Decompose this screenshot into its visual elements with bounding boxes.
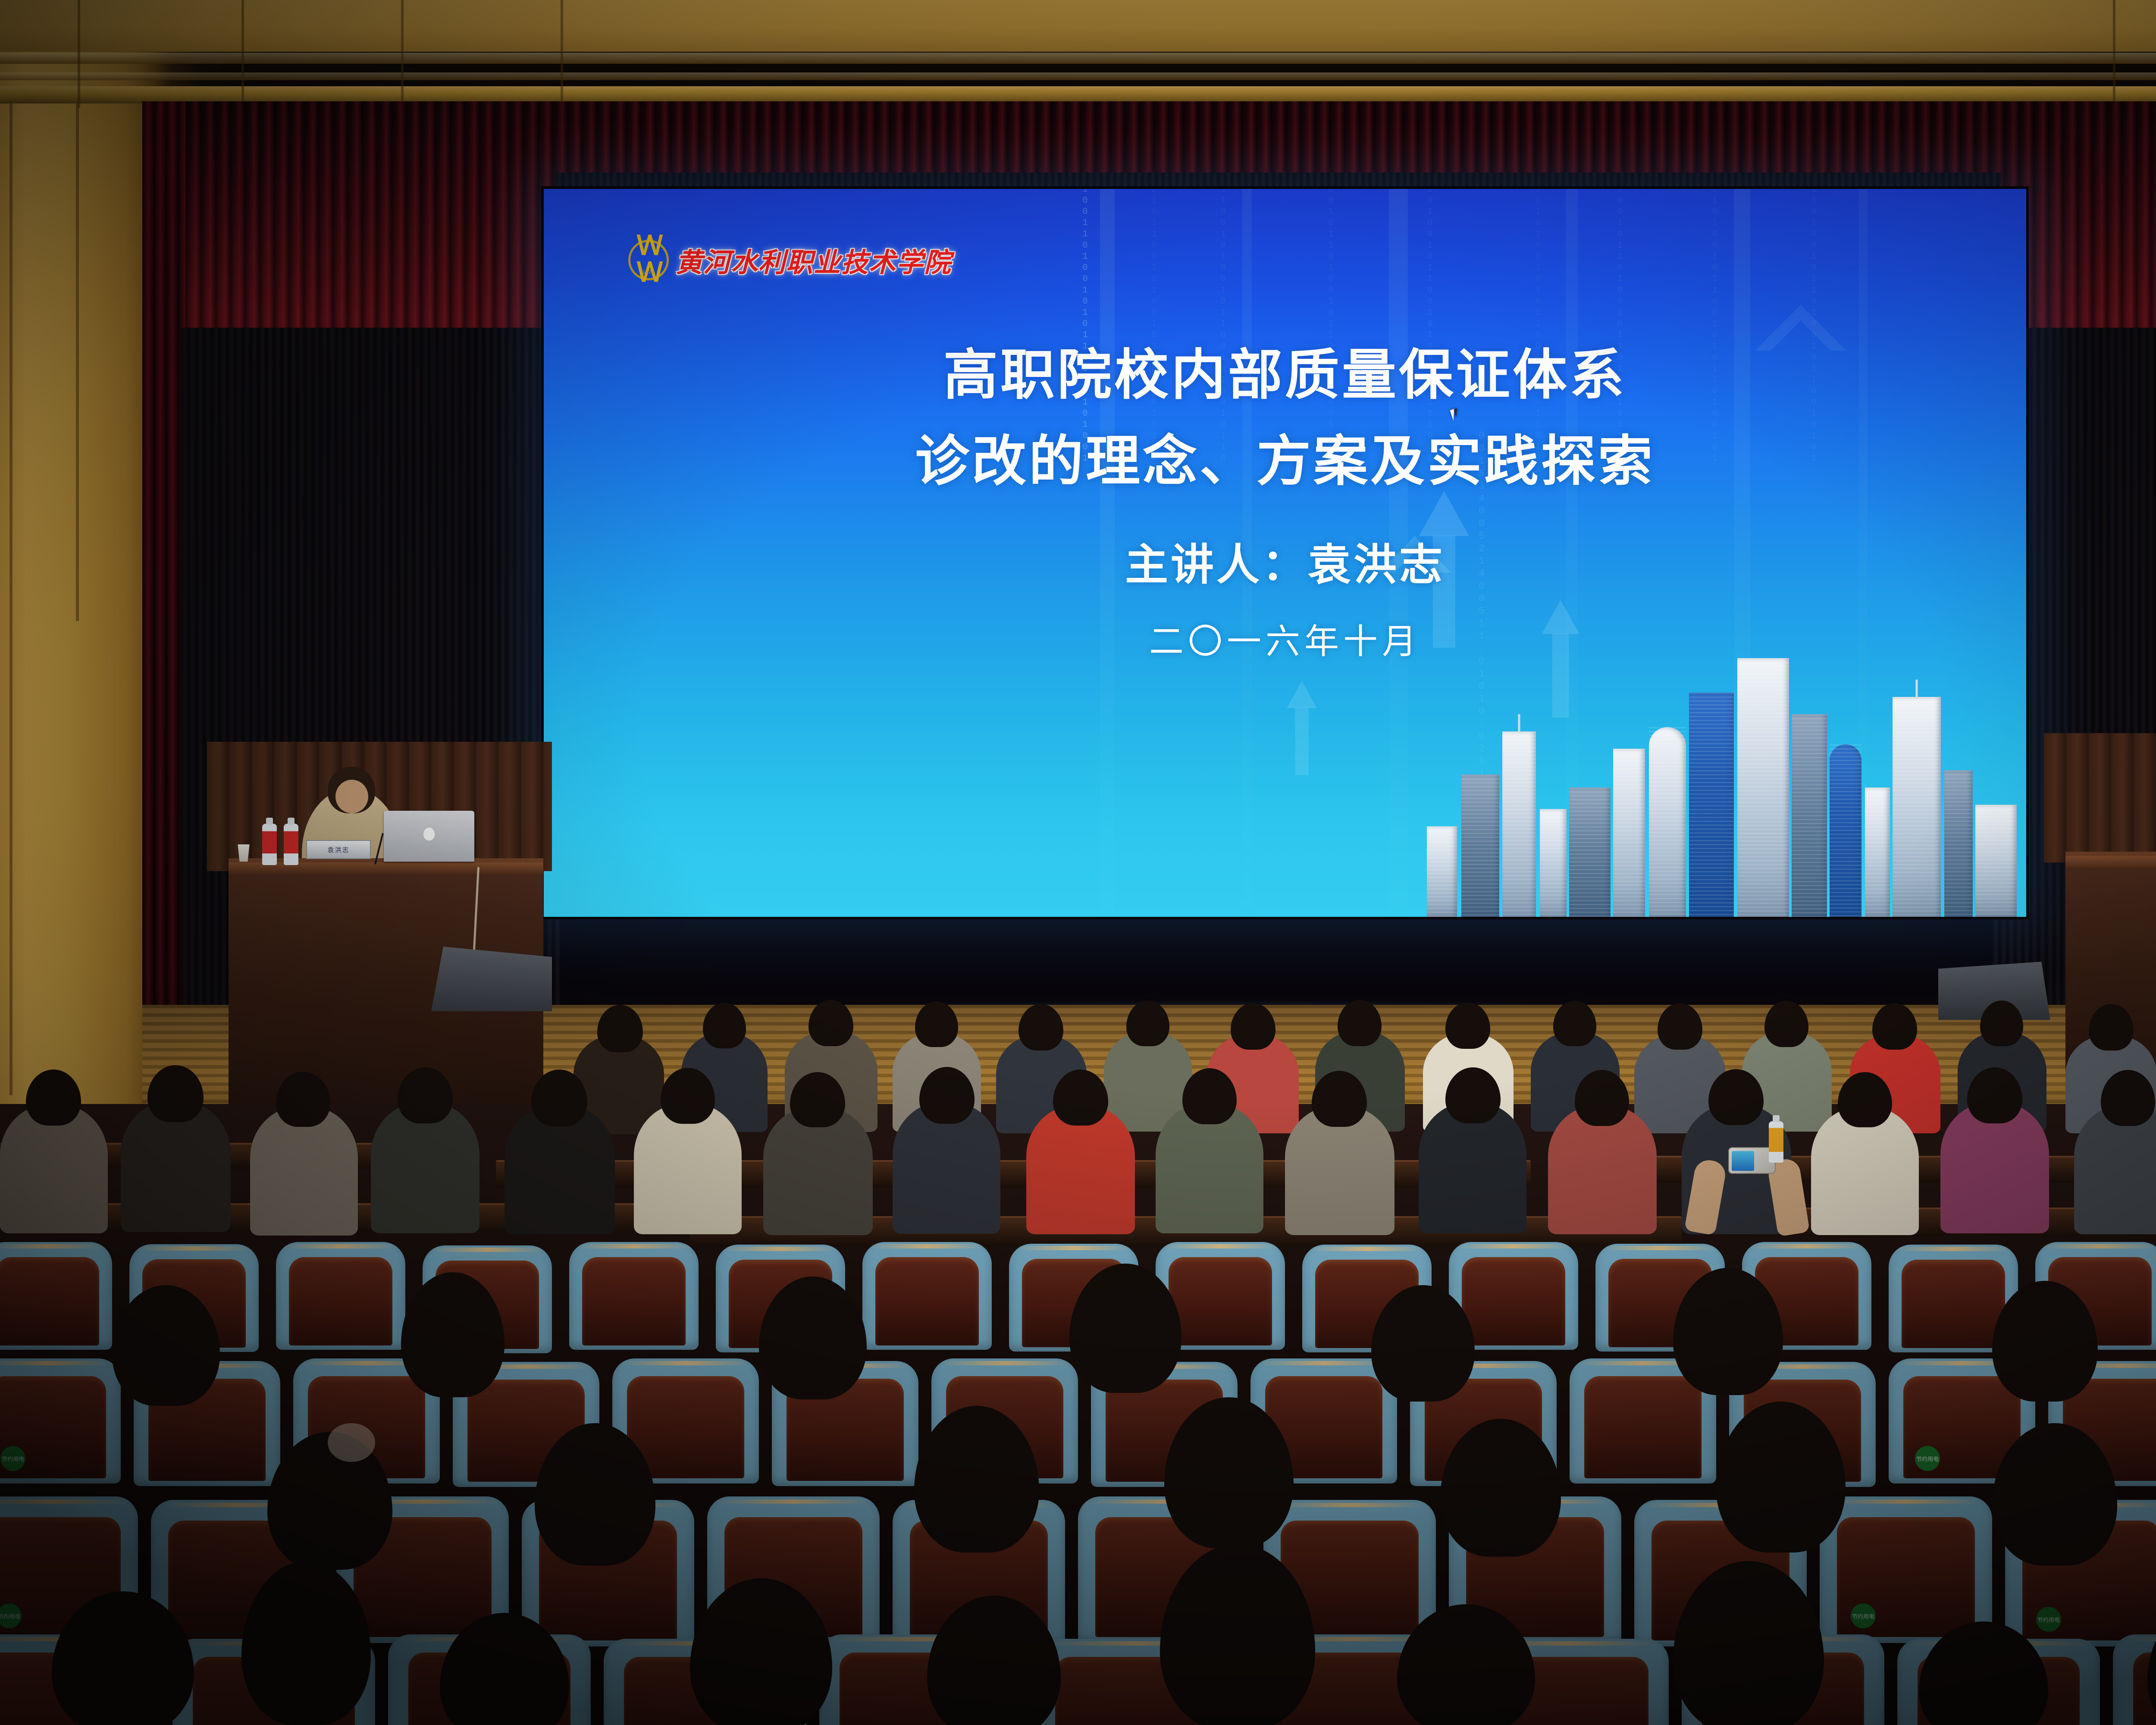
wall-seam (78, 0, 80, 108)
hair-clip (328, 1423, 375, 1462)
podium-backdrop-right (2044, 733, 2156, 862)
presentation-slide: 1001101001010110010101001 01011001010010… (544, 189, 2026, 917)
wall-pilaster (9, 103, 13, 1095)
water-bottle (262, 824, 277, 865)
slide-title-line2: 诊改的理念、方案及实践探索 (544, 417, 2026, 496)
juice-bottle (1769, 1121, 1783, 1163)
presenter-laptop (384, 811, 474, 862)
stage-monitor-speaker-left (431, 947, 552, 1011)
presenter-face (335, 780, 368, 813)
hall-ceiling-band (0, 0, 2156, 52)
wall-molding-lower (0, 86, 2156, 103)
phone-screen (1732, 1151, 1754, 1171)
wall-molding-upper (0, 53, 2156, 64)
seat-sticker: 节约用电 (2036, 1607, 2061, 1632)
theater-seat[interactable] (0, 1242, 112, 1350)
auditorium-scene: 1001101001010110010101001 01011001010010… (0, 0, 2156, 1725)
emblem-year: 1929 (642, 270, 655, 275)
theater-seat[interactable]: 节约用电 (1820, 1496, 1992, 1643)
seat-sticker: 节约用电 (1915, 1446, 1940, 1471)
water-bottle (284, 824, 298, 865)
city-skyline-graphic (1414, 649, 2026, 917)
nameplate-left: 袁洪志 (306, 840, 371, 859)
institution-name: 黄河水利职业技术学院 (676, 241, 952, 279)
wall-seam (241, 0, 244, 108)
theater-seat[interactable]: 节约用电 (0, 1358, 121, 1483)
binary-stream: 0101100101001011010010110 (1147, 189, 1159, 810)
institution-emblem-icon: ＷＷ 1929 (628, 240, 669, 280)
wall-seam (401, 0, 404, 108)
seat-sticker: 节约用电 (0, 1446, 25, 1471)
institution-logo: ＷＷ 1929 黄河水利职业技术学院 (628, 240, 952, 280)
apple-logo-icon (423, 828, 435, 841)
up-arrow-graphic (1287, 681, 1317, 708)
wall-seam (561, 0, 563, 108)
wall-seam (2113, 0, 2115, 108)
projection-screen: 1001101001010110010101001 01011001010010… (541, 186, 2029, 919)
slide-title-line1: 高职院校内部质量保证体系 (544, 331, 2026, 410)
emblem-glyph: ＷＷ (636, 232, 661, 286)
theater-seat[interactable] (276, 1242, 405, 1350)
wall-molding-middle (0, 72, 2156, 80)
slide-presenter: 主讲人：袁洪志 (544, 530, 2026, 592)
theater-seat[interactable] (569, 1242, 699, 1350)
podium-shelf (2065, 856, 2156, 868)
wall-pilaster (76, 103, 79, 621)
seat-sticker: 节约用电 (1851, 1603, 1876, 1628)
slide-date: 二〇一六年十月 (544, 614, 2026, 664)
theater-seat[interactable] (862, 1242, 992, 1350)
